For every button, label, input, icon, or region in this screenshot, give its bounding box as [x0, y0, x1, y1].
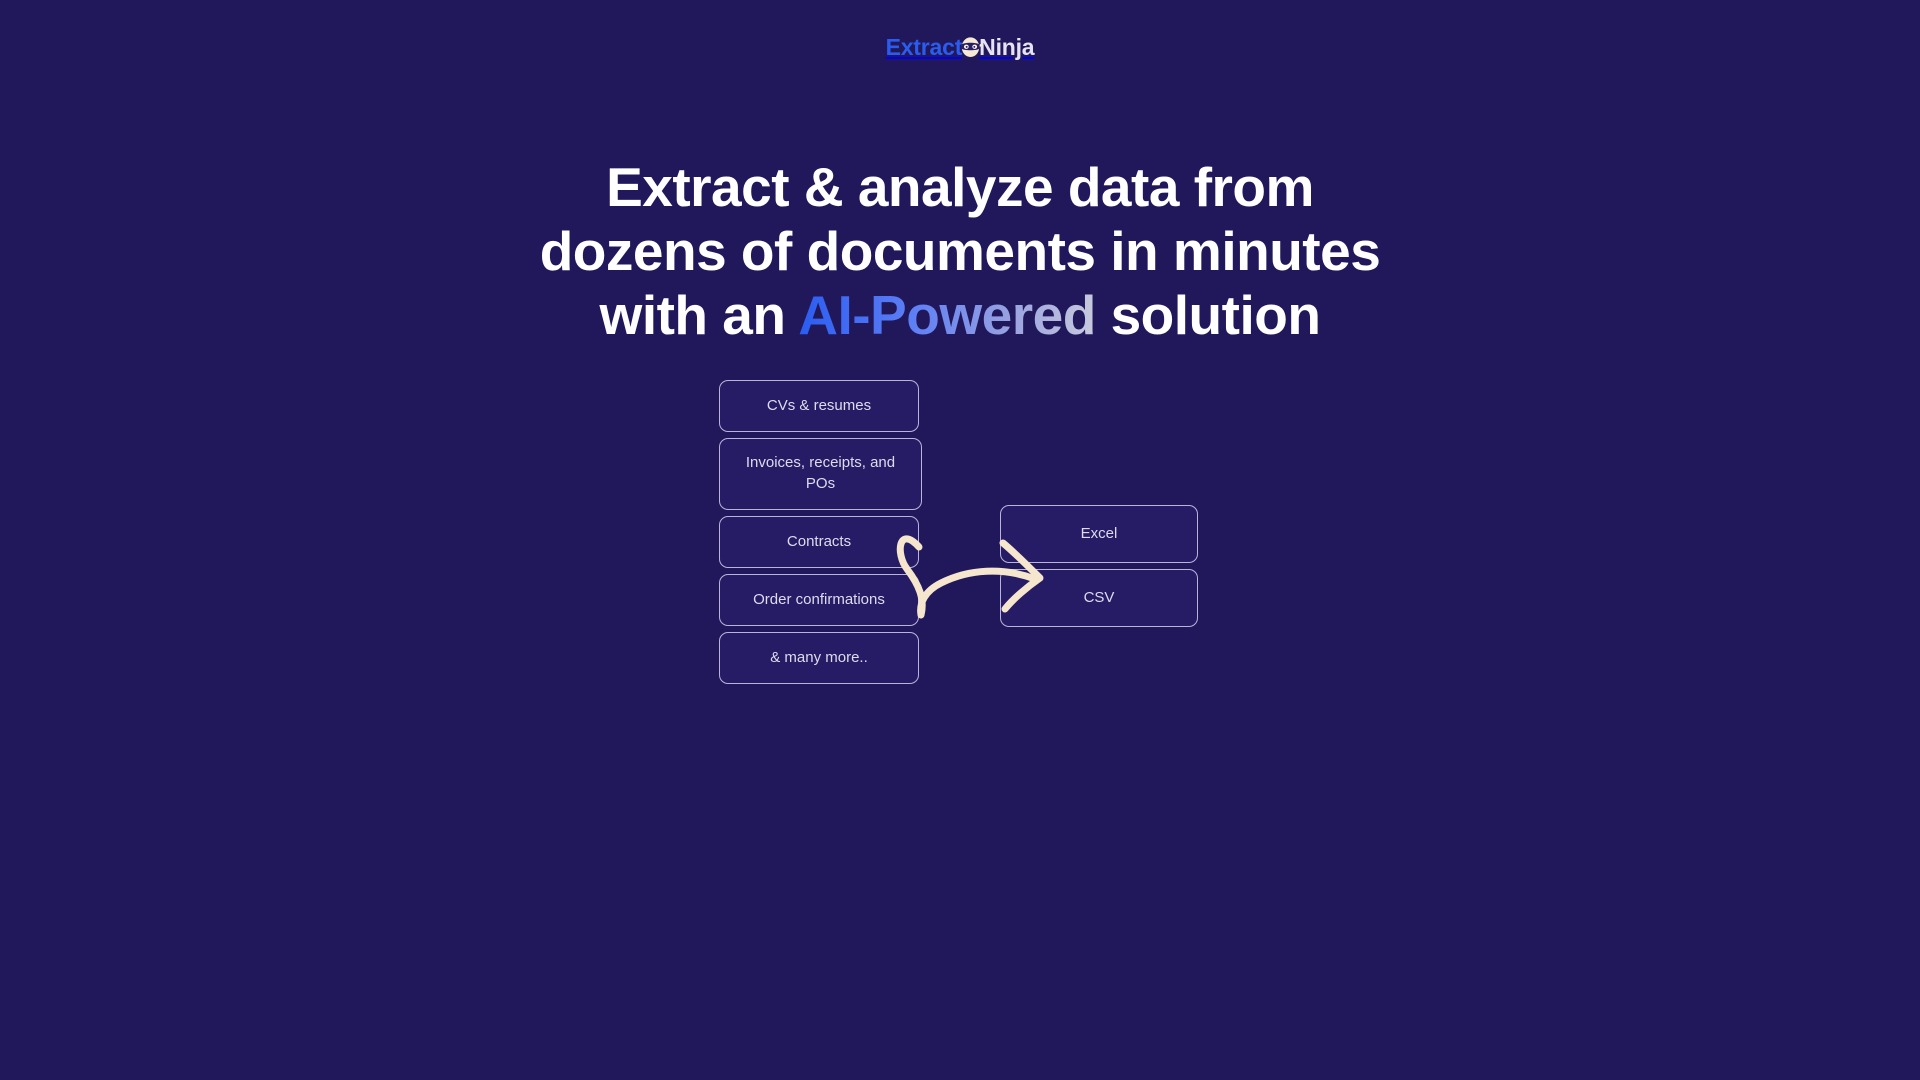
- headline-line-1: Extract & analyze data from: [410, 156, 1510, 220]
- list-item[interactable]: CSV: [1000, 569, 1198, 627]
- input-document-types: CVs & resumes Invoices, receipts, and PO…: [719, 380, 919, 684]
- headline-prefix: with an: [600, 284, 799, 346]
- brand-name-secondary: Ninja: [979, 36, 1034, 59]
- list-item[interactable]: Contracts: [719, 516, 919, 568]
- headline-line-3: with an AI-Powered solution: [410, 284, 1510, 348]
- list-item[interactable]: CVs & resumes: [719, 380, 919, 432]
- output-formats: Excel CSV: [1000, 505, 1198, 627]
- list-item[interactable]: Order confirmations: [719, 574, 919, 626]
- headline-highlight: AI-Powered: [798, 284, 1096, 346]
- headline-line-2: dozens of documents in minutes: [410, 220, 1510, 284]
- workflow-diagram: CVs & resumes Invoices, receipts, and PO…: [0, 380, 1920, 720]
- ninja-face-icon: [957, 33, 984, 60]
- list-item[interactable]: & many more..: [719, 632, 919, 684]
- headline-suffix: solution: [1096, 284, 1321, 346]
- brand-name-primary: Extract: [886, 36, 963, 59]
- site-header: Extract Ninja: [0, 34, 1920, 61]
- landing-page: Extract Ninja Extract & analyze data fro…: [0, 0, 1920, 1080]
- list-item[interactable]: Invoices, receipts, and POs: [719, 438, 922, 510]
- page-title: Extract & analyze data from dozens of do…: [410, 156, 1510, 347]
- list-item[interactable]: Excel: [1000, 505, 1198, 563]
- brand-logo[interactable]: Extract Ninja: [886, 34, 1035, 61]
